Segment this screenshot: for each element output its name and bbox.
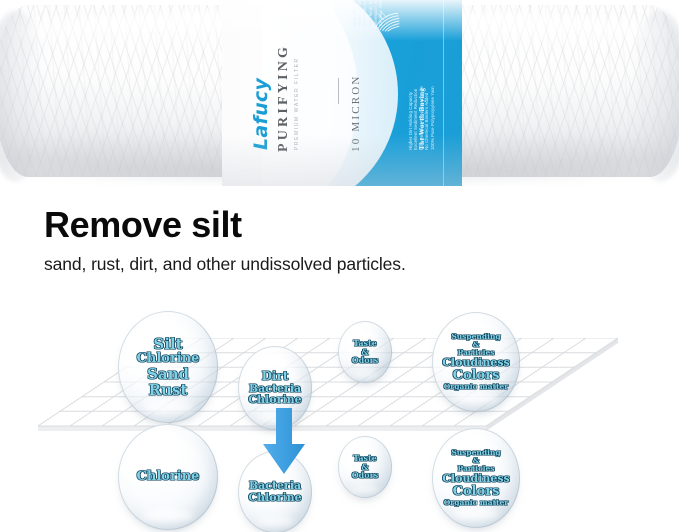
bubble-chlorine-bottom: Chlorine [118, 424, 218, 530]
bubble-silt-chlorine-sand-rust: Silt Chlorine Sand Rust [118, 311, 218, 423]
down-arrow-icon [262, 408, 306, 476]
bubble-line: Rust [149, 382, 188, 398]
bubble-line: Organic matter [444, 383, 509, 391]
bubble-line: Colors [453, 485, 500, 499]
cartridge-right-end [630, 10, 679, 182]
spec-item: Flow Rate: 4 GPM [362, 0, 367, 26]
product-marketing-image: Lafucy PURIFYING PREMIUM WATER FILTER 10… [0, 0, 679, 532]
headline-subtitle: sand, rust, dirt, and other undissolved … [44, 252, 644, 276]
filtration-diagram: Silt Chlorine Sand Rust Dirt Bacteria Ch… [0, 296, 679, 532]
bubble-line: Chlorine [248, 492, 301, 504]
product-label: Lafucy PURIFYING PREMIUM WATER FILTER 10… [222, 0, 462, 186]
cartridge-left-end [0, 10, 44, 182]
feature-item: No Chemical Binders Added [424, 86, 429, 150]
bubble-line: Sand [147, 366, 189, 382]
features-list: Higher Dirt Holding Capacity Excellent S… [408, 86, 435, 150]
label-edge-rule [443, 0, 444, 186]
micron-rating: 10 MICRON [350, 74, 362, 152]
brand-name: Lafucy [250, 78, 272, 150]
product-photo: Lafucy PURIFYING PREMIUM WATER FILTER 10… [0, 0, 679, 186]
bubble-line: Odors [352, 356, 379, 365]
bubble-line: Colors [453, 369, 500, 383]
headline-block: Remove silt sand, rust, dirt, and other … [44, 204, 644, 276]
bubble-line: Organic matter [444, 499, 509, 507]
bubble-line: Chlorine [137, 352, 200, 366]
bubble-taste-odors-top: Taste & Odors [338, 321, 392, 383]
bubble-suspending-particles-bottom: Suspending & Particles Cloudiness Colors… [432, 428, 520, 528]
bubble-line: Silt [153, 336, 182, 352]
headline-title: Remove silt [44, 204, 644, 246]
micron-divider-rule [338, 78, 339, 104]
bubble-suspending-particles-top: Suspending & Particles Cloudiness Colors… [432, 312, 520, 412]
product-series-subtitle: PREMIUM WATER FILTER [294, 57, 300, 150]
product-series: PURIFYING [276, 44, 292, 152]
bubble-taste-odors-bottom: Taste & Odors [338, 436, 392, 498]
bubble-line: Dirt [262, 370, 289, 383]
bubble-line: Chlorine [137, 470, 200, 484]
feature-item: 100% Pure Polypropylene Yarn [430, 86, 435, 150]
water-wave-icon [374, 10, 400, 32]
bubble-line: Odors [352, 471, 379, 480]
bubble-line: Chlorine [248, 394, 301, 406]
